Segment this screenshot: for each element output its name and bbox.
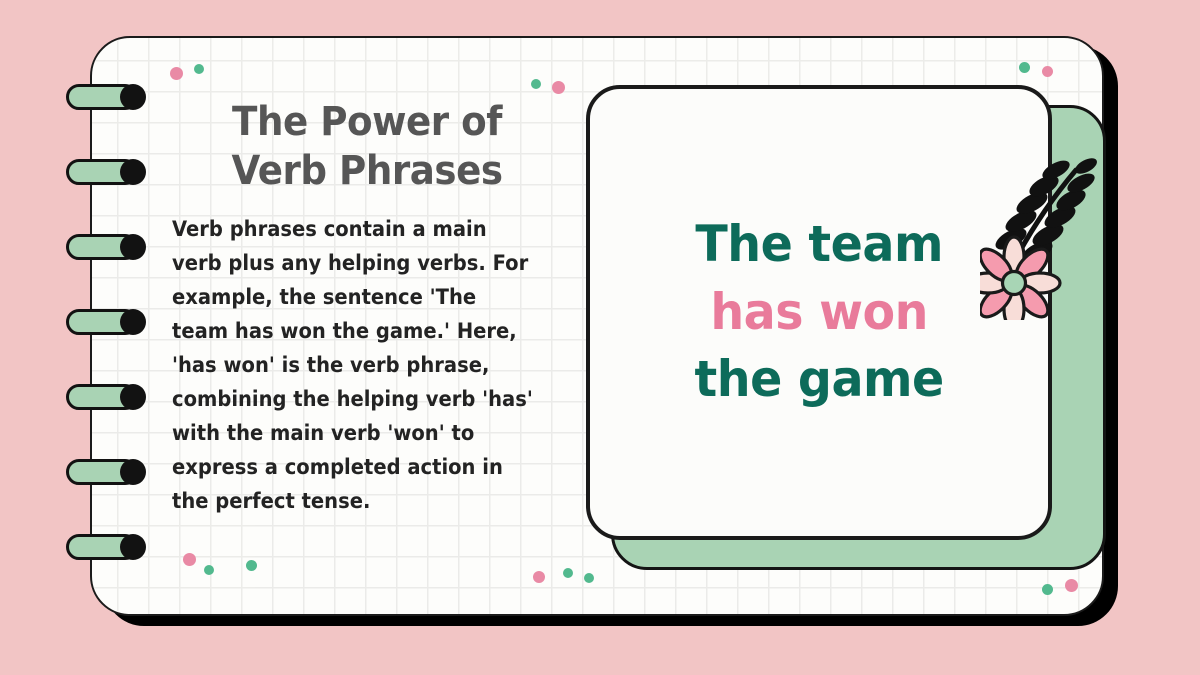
example-card-stack: The team has won the game [580,80,1080,570]
spiral-ring [66,309,138,335]
card-line-3: the game [694,346,943,414]
decorative-dot [1042,584,1053,595]
card-text-block: The team has won the game [677,211,960,414]
decorative-dot [183,553,196,566]
card-line-2: has won [694,279,943,347]
decorative-dot [170,67,183,80]
spiral-ring [66,234,138,260]
text-column: The Power of Verb Phrases Verb phrases c… [172,98,562,518]
body-paragraph: Verb phrases contain a main verb plus an… [172,212,535,518]
spiral-ring [66,84,138,110]
spiral-ring [66,459,138,485]
slide-root: The Power of Verb Phrases Verb phrases c… [0,0,1200,675]
spiral-ring [66,534,138,560]
spiral-ring [66,384,138,410]
decorative-dot [1042,66,1053,77]
decorative-dot [584,573,594,583]
card-line-1: The team [694,211,943,279]
card-front-white: The team has won the game [586,85,1052,540]
decorative-dot [1065,579,1078,592]
decorative-dot [194,64,204,74]
decorative-dot [563,568,573,578]
spiral-ring [66,159,138,185]
decorative-dot [531,79,541,89]
decorative-dot [552,81,565,94]
decorative-dot [533,571,545,583]
page-title: The Power of Verb Phrases [186,98,549,196]
decorative-dot [204,565,214,575]
decorative-dot [1019,62,1030,73]
decorative-dot [246,560,257,571]
